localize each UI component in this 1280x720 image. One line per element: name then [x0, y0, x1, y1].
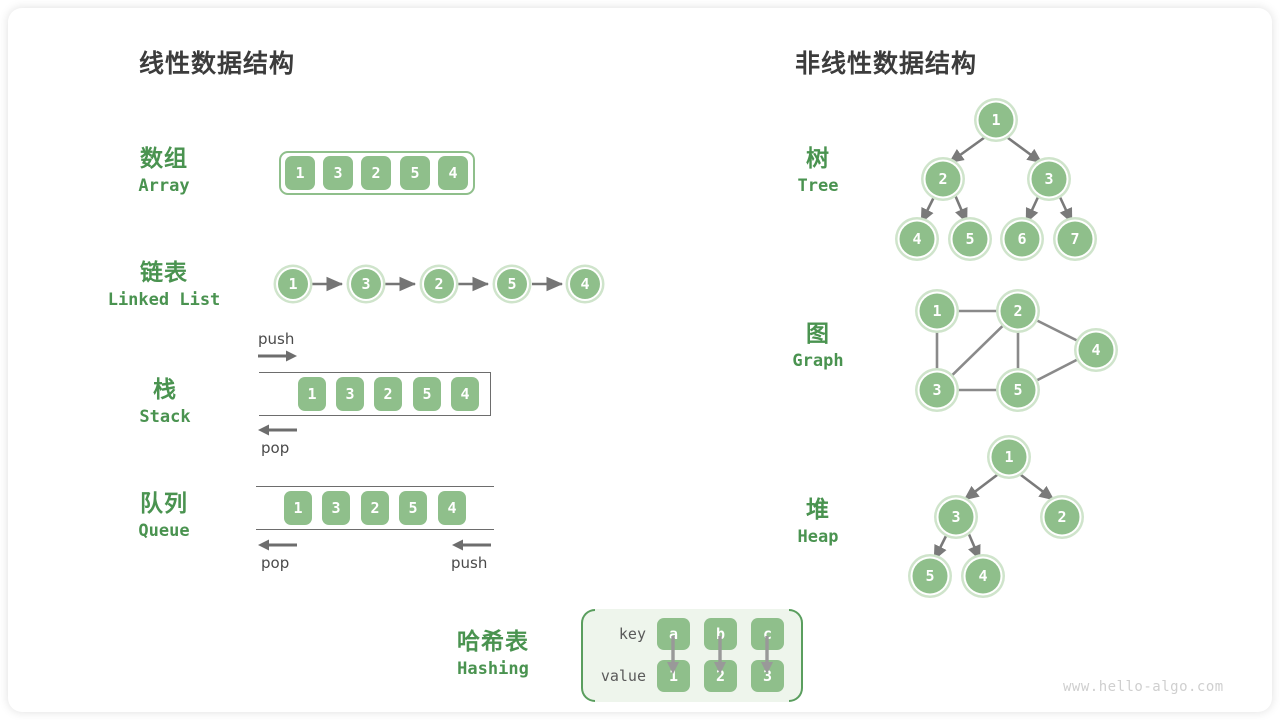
- hash-value-label: value: [590, 667, 646, 685]
- node-value: 4: [978, 567, 987, 585]
- label-heap: 堆 Heap: [758, 496, 878, 550]
- node-value: 3: [1044, 170, 1053, 188]
- linked-list-node[interactable]: 1: [274, 265, 313, 304]
- tree-diagram: 1 2 3 4 5 6: [883, 90, 1123, 272]
- queue-pop-label: pop: [261, 554, 289, 572]
- heap-node[interactable]: 3: [934, 495, 978, 539]
- label-linked-list-en: Linked List: [94, 287, 234, 313]
- node-value: 5: [965, 230, 974, 248]
- label-heap-cn: 堆: [758, 496, 878, 524]
- node-value: 1: [288, 275, 297, 293]
- graph-node[interactable]: 5: [996, 368, 1040, 412]
- label-queue-cn: 队列: [104, 490, 224, 518]
- queue-push-arrow-icon: [450, 538, 494, 552]
- right-column-title: 非线性数据结构: [795, 44, 977, 80]
- node-value: 1: [1004, 448, 1013, 466]
- array-cell[interactable]: 4: [438, 156, 468, 190]
- label-linked-list: 链表 Linked List: [94, 259, 234, 313]
- hash-key-label: key: [590, 625, 646, 643]
- queue-cell[interactable]: 4: [438, 491, 466, 525]
- node-value: 4: [580, 275, 589, 293]
- node-value: 4: [912, 230, 921, 248]
- graph-node[interactable]: 2: [996, 289, 1040, 333]
- label-tree-en: Tree: [758, 173, 878, 199]
- node-value: 2: [938, 170, 947, 188]
- label-hashing-cn: 哈希表: [431, 628, 555, 656]
- queue-cell[interactable]: 3: [322, 491, 350, 525]
- hash-mapping-arrows-icon: [653, 634, 793, 678]
- stack-cell[interactable]: 4: [451, 377, 479, 411]
- heap-node[interactable]: 5: [908, 554, 952, 598]
- node-value: 3: [951, 508, 960, 526]
- heap-diagram: 1 3 2 5 4: [898, 427, 1098, 609]
- node-value: 6: [1017, 230, 1026, 248]
- stack-pop-arrow-icon: [256, 423, 300, 437]
- linked-list-node[interactable]: 3: [347, 265, 386, 304]
- graph-node[interactable]: 3: [915, 368, 959, 412]
- heap-node[interactable]: 2: [1040, 495, 1084, 539]
- tree-node[interactable]: 5: [948, 217, 992, 261]
- heap-node[interactable]: 4: [961, 554, 1005, 598]
- label-graph-en: Graph: [758, 348, 878, 374]
- tree-node[interactable]: 2: [921, 157, 965, 201]
- stack-push-arrow-icon: [256, 349, 300, 363]
- tree-node[interactable]: 7: [1053, 217, 1097, 261]
- array-cell[interactable]: 2: [361, 156, 391, 190]
- array-cell[interactable]: 5: [400, 156, 430, 190]
- stack-pop-label: pop: [261, 439, 289, 457]
- node-value: 2: [434, 275, 443, 293]
- label-stack-en: Stack: [105, 404, 225, 430]
- graph-node[interactable]: 1: [915, 289, 959, 333]
- label-queue-en: Queue: [104, 518, 224, 544]
- node-value: 5: [925, 567, 934, 585]
- watermark: www.hello-algo.com: [1063, 679, 1224, 695]
- label-hashing: 哈希表 Hashing: [431, 628, 555, 682]
- queue-cell[interactable]: 1: [284, 491, 312, 525]
- left-column-title: 线性数据结构: [139, 44, 295, 80]
- queue-push-label: push: [451, 554, 487, 572]
- queue-pop-arrow-icon: [256, 538, 300, 552]
- hash-brace-left-icon: [581, 609, 595, 702]
- node-value: 5: [1013, 381, 1022, 399]
- node-value: 2: [1013, 302, 1022, 320]
- stack-cell[interactable]: 2: [374, 377, 402, 411]
- label-stack: 栈 Stack: [105, 376, 225, 430]
- array-cell[interactable]: 3: [323, 156, 353, 190]
- tree-node[interactable]: 3: [1027, 157, 1071, 201]
- label-array: 数组 Array: [104, 145, 224, 199]
- node-value: 3: [361, 275, 370, 293]
- node-value: 2: [1057, 508, 1066, 526]
- linked-list-node[interactable]: 4: [566, 265, 605, 304]
- node-value: 7: [1070, 230, 1079, 248]
- label-queue: 队列 Queue: [104, 490, 224, 544]
- stack-cell[interactable]: 3: [336, 377, 364, 411]
- label-array-cn: 数组: [104, 145, 224, 173]
- tree-node[interactable]: 4: [895, 217, 939, 261]
- label-array-en: Array: [104, 173, 224, 199]
- queue-cell[interactable]: 5: [399, 491, 427, 525]
- tree-node[interactable]: 6: [1000, 217, 1044, 261]
- node-value: 4: [1091, 341, 1100, 359]
- queue-cell[interactable]: 2: [361, 491, 389, 525]
- label-heap-en: Heap: [758, 524, 878, 550]
- tree-node[interactable]: 1: [974, 98, 1018, 142]
- stack-cell[interactable]: 1: [298, 377, 326, 411]
- label-tree: 树 Tree: [758, 145, 878, 199]
- linked-list-diagram: 1 3 2 5 4: [266, 256, 614, 312]
- stack-cell[interactable]: 5: [413, 377, 441, 411]
- array-cell[interactable]: 1: [285, 156, 315, 190]
- label-tree-cn: 树: [758, 145, 878, 173]
- node-value: 3: [932, 381, 941, 399]
- label-linked-list-cn: 链表: [94, 259, 234, 287]
- graph-diagram: 1 2 3 4 5: [903, 283, 1133, 418]
- label-stack-cn: 栈: [105, 376, 225, 404]
- label-graph-cn: 图: [758, 320, 878, 348]
- node-value: 1: [991, 111, 1000, 129]
- linked-list-node[interactable]: 2: [420, 265, 459, 304]
- node-value: 1: [932, 302, 941, 320]
- linked-list-node[interactable]: 5: [493, 265, 532, 304]
- heap-node[interactable]: 1: [987, 435, 1031, 479]
- stack-push-label: push: [258, 330, 294, 348]
- label-hashing-en: Hashing: [431, 656, 555, 682]
- diagram-canvas: 线性数据结构 非线性数据结构 数组 Array 1 3 2 5 4 链表 Lin…: [8, 8, 1272, 712]
- node-value: 5: [507, 275, 516, 293]
- label-graph: 图 Graph: [758, 320, 878, 374]
- graph-node[interactable]: 4: [1074, 328, 1118, 372]
